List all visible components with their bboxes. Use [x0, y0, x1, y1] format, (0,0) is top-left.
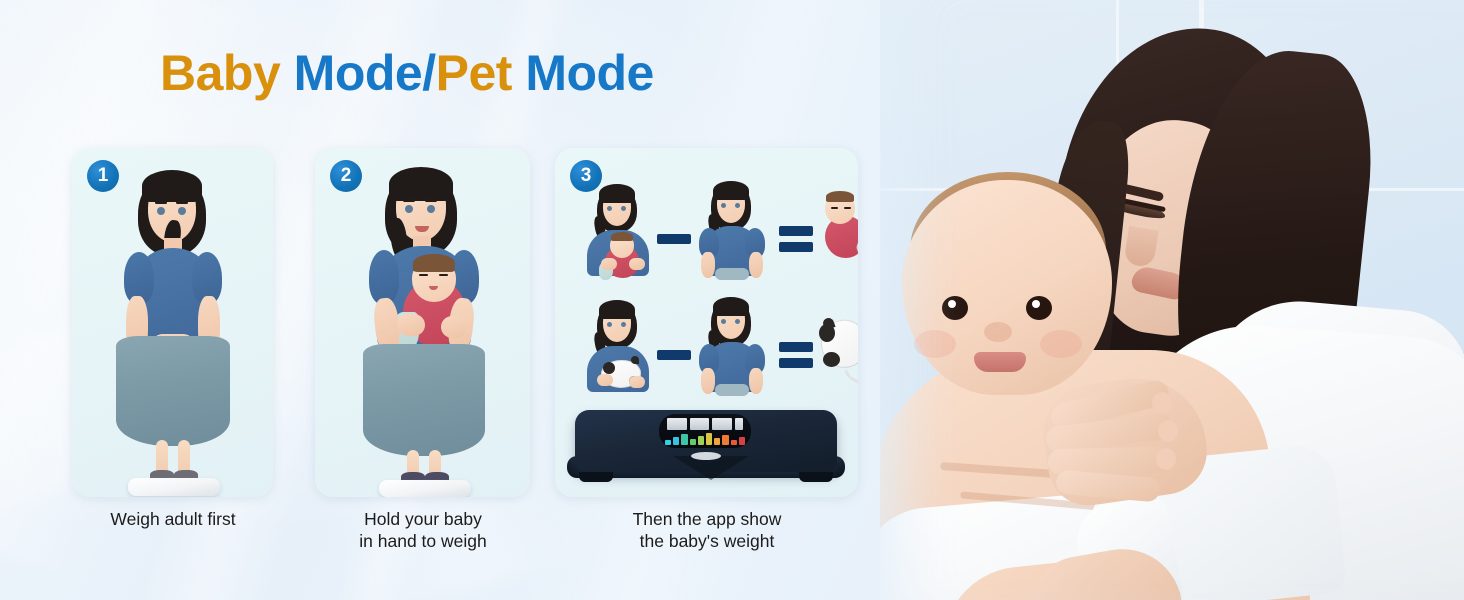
step-caption-1: Weigh adult first — [48, 508, 298, 530]
baby-hair — [826, 191, 854, 202]
equals-operator — [779, 226, 813, 236]
mother-kissing-baby-photo — [880, 0, 1464, 600]
step-badge-1: 1 — [87, 160, 119, 192]
caption-line: Weigh adult first — [48, 508, 298, 530]
woman-eyebrow — [425, 199, 437, 202]
smart-scale — [563, 400, 851, 492]
bathroom-scale — [379, 480, 471, 497]
title-part-mode: Mode — [512, 45, 654, 101]
caption-line: the baby's weight — [556, 530, 858, 552]
equals-operator — [779, 358, 813, 368]
baby-hair — [413, 254, 455, 272]
display-bar — [698, 436, 704, 445]
step-badge-2: 2 — [330, 160, 362, 192]
step-caption-3: Then the app show the baby's weight — [556, 508, 858, 553]
woman-eye — [607, 206, 612, 211]
woman-eye — [721, 319, 726, 324]
woman-arm — [701, 368, 715, 394]
scale-display-bars — [665, 432, 745, 445]
woman-skirt-top — [715, 268, 749, 280]
display-digit — [690, 418, 710, 430]
step-card-3: 3 — [555, 148, 858, 497]
woman-hand — [629, 376, 645, 388]
equals-operator — [779, 242, 813, 252]
display-digit — [735, 418, 743, 430]
woman-eye — [427, 205, 435, 213]
woman-arm — [749, 252, 763, 278]
woman-eye — [405, 205, 413, 213]
minus-operator — [657, 350, 691, 360]
caption-line: in hand to weigh — [310, 530, 536, 552]
woman-eye — [621, 206, 626, 211]
woman-hand — [597, 374, 613, 386]
scale-logo-glow — [691, 452, 721, 460]
page-title: Baby Mode/Pet Mode — [160, 48, 654, 98]
woman-eye — [735, 203, 740, 208]
woman-eye — [607, 322, 612, 327]
woman-hair-top — [713, 297, 749, 316]
equals-operator — [779, 342, 813, 352]
display-bar — [706, 433, 712, 445]
woman-hand — [397, 314, 425, 336]
display-bar — [681, 434, 687, 445]
caption-line: Hold your baby — [310, 508, 536, 530]
woman-eyebrow — [176, 201, 188, 204]
woman-hair-top — [713, 181, 749, 200]
woman-hair-top — [389, 167, 453, 201]
woman-hand — [441, 316, 467, 338]
woman-eyebrow — [155, 201, 167, 204]
woman-eye — [178, 207, 186, 215]
title-part-mode-slash: Mode/ — [294, 45, 436, 101]
promo-banner: Baby Mode/Pet Mode 1 — [0, 0, 1464, 600]
display-digit — [712, 418, 732, 430]
woman-skirt — [363, 344, 485, 456]
title-part-pet: Pet — [436, 45, 512, 101]
woman-arm — [749, 368, 763, 394]
equation-row-baby — [571, 182, 843, 277]
display-bar — [739, 437, 745, 445]
woman-arm — [701, 252, 715, 278]
woman-eye — [157, 207, 165, 215]
baby-eye — [439, 274, 448, 276]
step-card-1: 1 — [72, 148, 273, 497]
cat-patch — [603, 362, 615, 374]
woman-skirt-top — [715, 384, 749, 396]
woman-eye — [721, 203, 726, 208]
display-bar — [722, 435, 728, 445]
woman-hand — [629, 258, 645, 270]
cat-patch — [823, 352, 840, 367]
cat-ear — [631, 356, 639, 364]
scale-foot — [579, 472, 613, 482]
woman-eye — [621, 322, 626, 327]
display-digit — [667, 418, 687, 430]
step-caption-2: Hold your baby in hand to weigh — [310, 508, 536, 553]
display-bar — [731, 440, 737, 445]
photo-edge-blend — [880, 0, 1464, 600]
caption-line: Then the app show — [556, 508, 858, 530]
bathroom-scale — [128, 478, 220, 496]
baby-hair — [611, 232, 633, 241]
title-part-baby: Baby — [160, 45, 294, 101]
display-bar — [714, 438, 720, 445]
woman-eyebrow — [403, 199, 415, 202]
scale-display-digits — [667, 417, 743, 430]
baby-eye — [419, 274, 428, 276]
woman-hair-top — [599, 184, 635, 203]
woman-skirt — [116, 336, 230, 446]
display-bar — [673, 437, 679, 445]
woman-hair-top — [599, 300, 635, 319]
display-bar — [690, 439, 696, 445]
minus-operator — [657, 234, 691, 244]
display-bar — [665, 440, 671, 445]
woman-hair-top — [142, 170, 202, 202]
step-card-2: 2 — [315, 148, 530, 497]
scale-foot — [799, 472, 833, 482]
woman-eye — [735, 319, 740, 324]
woman-sleeve — [369, 250, 399, 304]
baby-eye — [844, 207, 851, 209]
woman-hand — [601, 258, 617, 270]
equation-row-pet — [571, 298, 843, 393]
baby-eye — [831, 207, 838, 209]
